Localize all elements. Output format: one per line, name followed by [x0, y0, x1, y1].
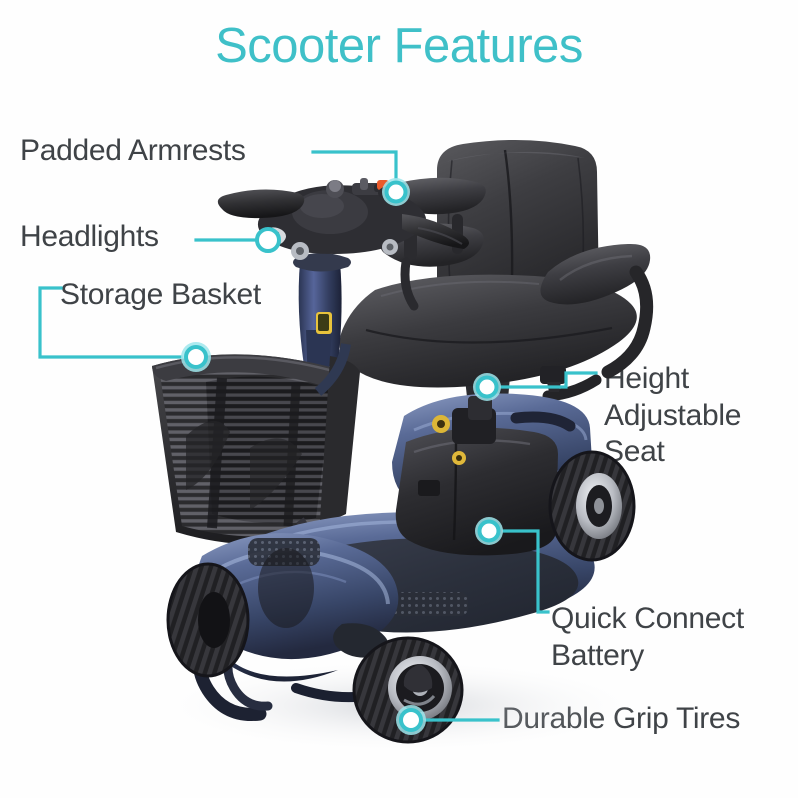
scooter-features-infographic: Scooter Features Padded Armrests Headlig… — [0, 0, 798, 798]
callout-markers — [181, 178, 503, 735]
leader-padded-armrests — [313, 152, 396, 178]
marker-quick-connect-battery — [475, 517, 503, 545]
leader-storage-basket — [40, 288, 181, 357]
marker-durable-grip-tires — [396, 705, 426, 735]
marker-headlights — [257, 229, 279, 251]
marker-height-adjustable-seat — [473, 373, 501, 401]
marker-padded-armrests — [382, 178, 410, 206]
leader-quick-connect-battery — [504, 531, 548, 612]
marker-storage-basket — [181, 342, 211, 372]
callout-leader-lines — [0, 0, 798, 798]
leader-height-adjustable-seat — [502, 373, 596, 387]
